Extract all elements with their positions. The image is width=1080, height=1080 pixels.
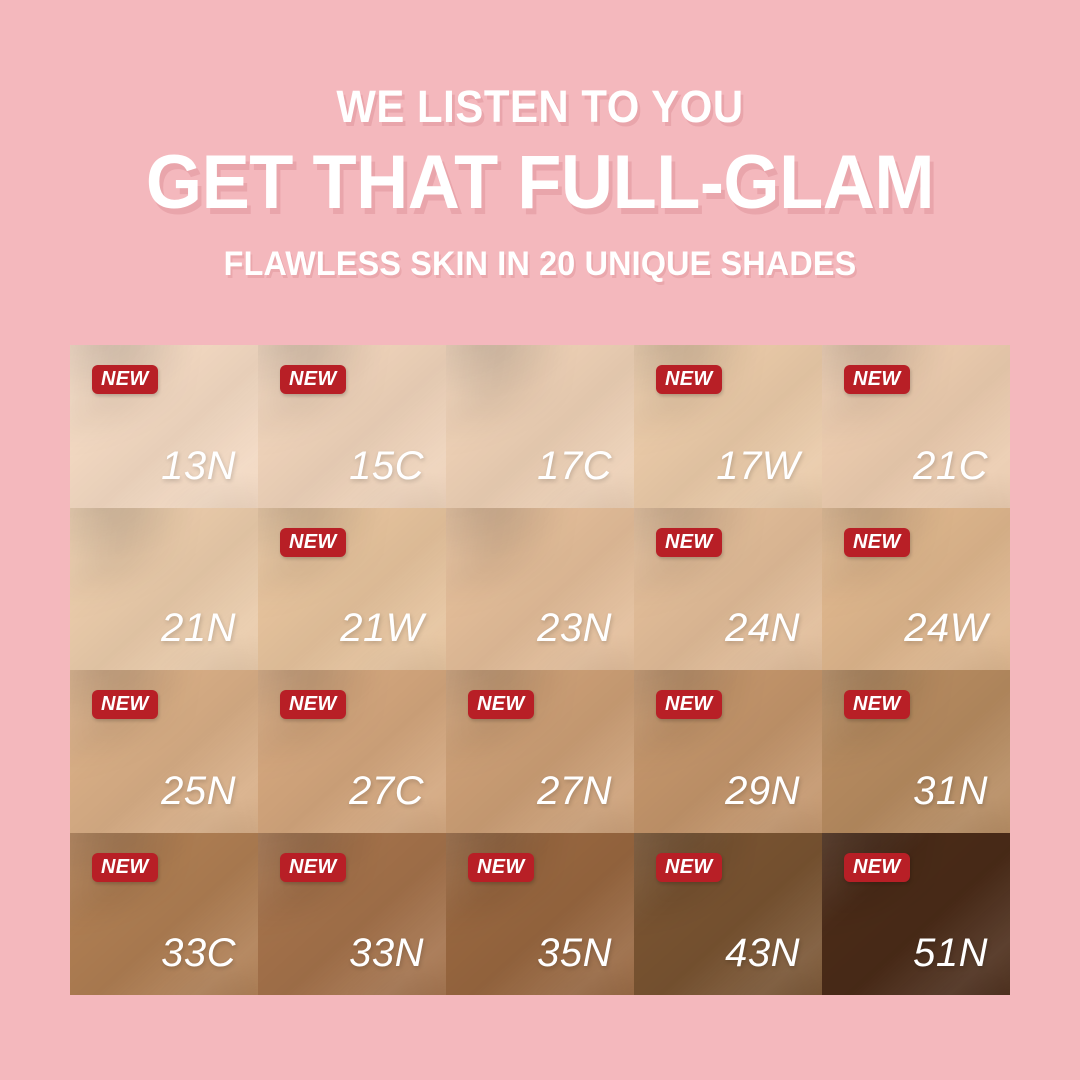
shade-code-label: 33N [349, 933, 424, 973]
shade-swatch[interactable]: NEW17C [446, 345, 634, 508]
new-badge: NEW [280, 528, 346, 557]
shade-code-label: 13N [161, 446, 236, 486]
shade-swatch[interactable]: NEW27C [258, 670, 446, 833]
new-badge: NEW [280, 365, 346, 394]
shade-swatch[interactable]: NEW24N [634, 508, 822, 671]
shade-code-label: 15C [349, 446, 424, 486]
shade-code-label: 23N [537, 608, 612, 648]
shade-code-label: 21C [913, 446, 988, 486]
shade-swatch[interactable]: NEW33C [70, 833, 258, 996]
shade-swatch[interactable]: NEW17W [634, 345, 822, 508]
new-badge: NEW [92, 853, 158, 882]
shade-swatch[interactable]: NEW23N [446, 508, 634, 671]
new-badge: NEW [844, 690, 910, 719]
new-badge: NEW [844, 528, 910, 557]
shade-code-label: 31N [913, 771, 988, 811]
subtitle-text: FLAWLESS SKIN IN 20 UNIQUE SHADES [27, 247, 1053, 281]
shade-code-label: 43N [725, 933, 800, 973]
new-badge: NEW [280, 690, 346, 719]
swatch-sheen [70, 508, 248, 605]
swatch-sheen [446, 345, 624, 442]
page-title: GET THAT FULL-GLAM [27, 145, 1053, 221]
shade-code-label: 17C [537, 446, 612, 486]
shade-swatch[interactable]: NEW21N [70, 508, 258, 671]
new-badge: NEW [844, 365, 910, 394]
shade-code-label: 21N [161, 608, 236, 648]
shade-swatch[interactable]: NEW27N [446, 670, 634, 833]
shade-code-label: 33C [161, 933, 236, 973]
eyebrow-text: WE LISTEN TO YOU [38, 84, 1042, 129]
shade-swatch[interactable]: NEW25N [70, 670, 258, 833]
swatch-sheen [446, 508, 624, 605]
shade-code-label: 27C [349, 771, 424, 811]
new-badge: NEW [656, 853, 722, 882]
shade-swatch[interactable]: NEW31N [822, 670, 1010, 833]
shade-swatch[interactable]: NEW15C [258, 345, 446, 508]
shade-code-label: 24W [904, 608, 988, 648]
shade-code-label: 27N [537, 771, 612, 811]
shade-code-label: 21W [340, 608, 424, 648]
new-badge: NEW [92, 365, 158, 394]
shade-swatch[interactable]: NEW21C [822, 345, 1010, 508]
shade-swatch[interactable]: NEW51N [822, 833, 1010, 996]
shade-swatch[interactable]: NEW24W [822, 508, 1010, 671]
shade-swatch[interactable]: NEW33N [258, 833, 446, 996]
shade-swatch[interactable]: NEW29N [634, 670, 822, 833]
shade-code-label: 17W [716, 446, 800, 486]
shade-grid: NEW13NNEW15CNEW17CNEW17WNEW21CNEW21NNEW2… [70, 345, 1010, 995]
new-badge: NEW [844, 853, 910, 882]
header-block: WE LISTEN TO YOU GET THAT FULL-GLAM FLAW… [0, 84, 1080, 281]
shade-range-poster: WE LISTEN TO YOU GET THAT FULL-GLAM FLAW… [0, 0, 1080, 1080]
new-badge: NEW [468, 853, 534, 882]
new-badge: NEW [468, 690, 534, 719]
shade-swatch[interactable]: NEW35N [446, 833, 634, 996]
shade-code-label: 51N [913, 933, 988, 973]
shade-code-label: 29N [725, 771, 800, 811]
new-badge: NEW [280, 853, 346, 882]
new-badge: NEW [92, 690, 158, 719]
shade-swatch[interactable]: NEW43N [634, 833, 822, 996]
shade-code-label: 24N [725, 608, 800, 648]
shade-swatch[interactable]: NEW21W [258, 508, 446, 671]
new-badge: NEW [656, 528, 722, 557]
shade-code-label: 35N [537, 933, 612, 973]
shade-code-label: 25N [161, 771, 236, 811]
new-badge: NEW [656, 690, 722, 719]
new-badge: NEW [656, 365, 722, 394]
shade-swatch[interactable]: NEW13N [70, 345, 258, 508]
